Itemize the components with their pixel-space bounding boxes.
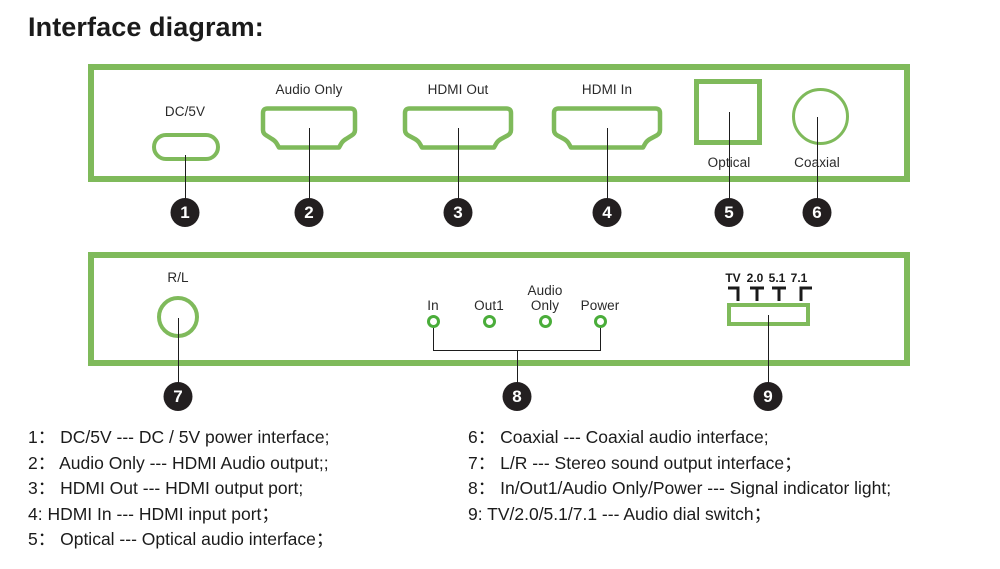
leader-8-left [433,328,434,350]
legend-right-column: 6： Coaxial --- Coaxial audio interface; … [468,425,891,527]
badge-5: 5 [715,198,744,227]
badge-1: 1 [171,198,200,227]
label-hdmi-in: HDMI In [582,82,632,97]
leader-6 [817,117,818,200]
badge-2: 2 [295,198,324,227]
port-dc5v[interactable] [152,133,220,161]
leader-1 [185,155,186,200]
legend-item-3: 3： HDMI Out --- HDMI output port; [28,476,333,502]
legend-item-1: 1： DC/5V --- DC / 5V power interface; [28,425,333,451]
led-in [427,315,440,328]
dial-label-tv: TV [725,271,740,285]
dial-label-71: 7.1 [791,271,808,285]
badge-3: 3 [444,198,473,227]
led-out1 [483,315,496,328]
legend-item-4: 4: HDMI In --- HDMI input port； [28,502,333,528]
legend-item-8: 8： In/Out1/Audio Only/Power --- Signal i… [468,476,891,502]
page-title: Interface diagram: [28,12,264,43]
legend-item-7: 7： L/R --- Stereo sound output interface… [468,451,891,477]
badge-6: 6 [803,198,832,227]
leader-9 [768,315,769,384]
leader-4 [607,128,608,200]
dial-label-51: 5.1 [769,271,786,285]
interface-diagram-page: Interface diagram: DC/5V 1 Audio Only 2 … [0,0,1000,569]
led-audio-only [539,315,552,328]
port-coaxial[interactable] [792,88,849,145]
label-hdmi-out: HDMI Out [428,82,489,97]
label-rl: R/L [167,270,188,285]
dial-label-20: 2.0 [747,271,764,285]
label-led-power: Power [581,298,620,313]
legend-item-2: 2： Audio Only --- HDMI Audio output;; [28,451,333,477]
leader-8-right [600,328,601,350]
badge-7: 7 [164,382,193,411]
label-led-audio-only-line1: Audio [527,283,562,298]
leader-8-stem [517,350,518,384]
label-led-audio-only-line2: Only [531,298,559,313]
leader-2 [309,128,310,200]
label-dc5v: DC/5V [165,104,205,119]
label-led-out1: Out1 [474,298,504,313]
badge-9: 9 [754,382,783,411]
legend-item-6: 6： Coaxial --- Coaxial audio interface; [468,425,891,451]
leader-5 [729,112,730,200]
legend-item-9: 9: TV/2.0/5.1/7.1 --- Audio dial switch； [468,502,891,528]
badge-8: 8 [503,382,532,411]
legend-left-column: 1： DC/5V --- DC / 5V power interface; 2：… [28,425,333,553]
badge-4: 4 [593,198,622,227]
label-audio-only: Audio Only [275,82,342,97]
legend-item-5: 5： Optical --- Optical audio interface； [28,527,333,553]
port-optical[interactable] [694,79,762,145]
label-led-in: In [427,298,438,313]
led-power [594,315,607,328]
leader-7 [178,318,179,384]
leader-3 [458,128,459,200]
